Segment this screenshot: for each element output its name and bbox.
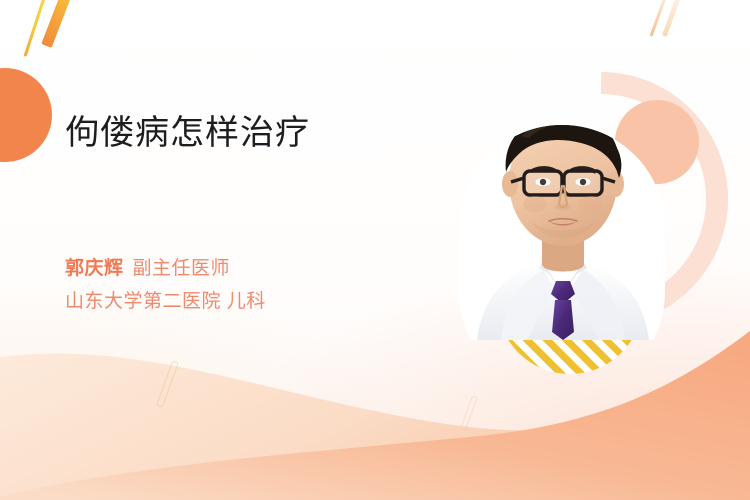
doctor-portrait [443,78,681,340]
stripe-top-left-thin-icon [24,0,47,57]
bottom-waves [0,315,750,500]
stripe-top-right-a-icon [650,0,672,37]
stripe-top-right-b-icon [662,0,687,37]
text-block: 佝偻病怎样治疗 郭庆辉副主任医师 山东大学第二医院 儿科 [65,112,425,155]
doctor-credentials: 郭庆辉副主任医师 山东大学第二医院 儿科 [65,252,425,319]
stripe-top-left-thick-icon [41,0,73,48]
video-cover-card: 佝偻病怎样治疗 郭庆辉副主任医师 山东大学第二医院 儿科 [0,0,750,500]
page-title: 佝偻病怎样治疗 [65,112,425,155]
doctor-affiliation: 山东大学第二医院 儿科 [65,285,425,318]
doctor-name: 郭庆辉 [65,258,124,279]
circle-left-orange-icon [0,68,52,162]
doctor-rank: 副主任医师 [133,258,231,279]
doctor-name-line: 郭庆辉副主任医师 [65,252,425,285]
